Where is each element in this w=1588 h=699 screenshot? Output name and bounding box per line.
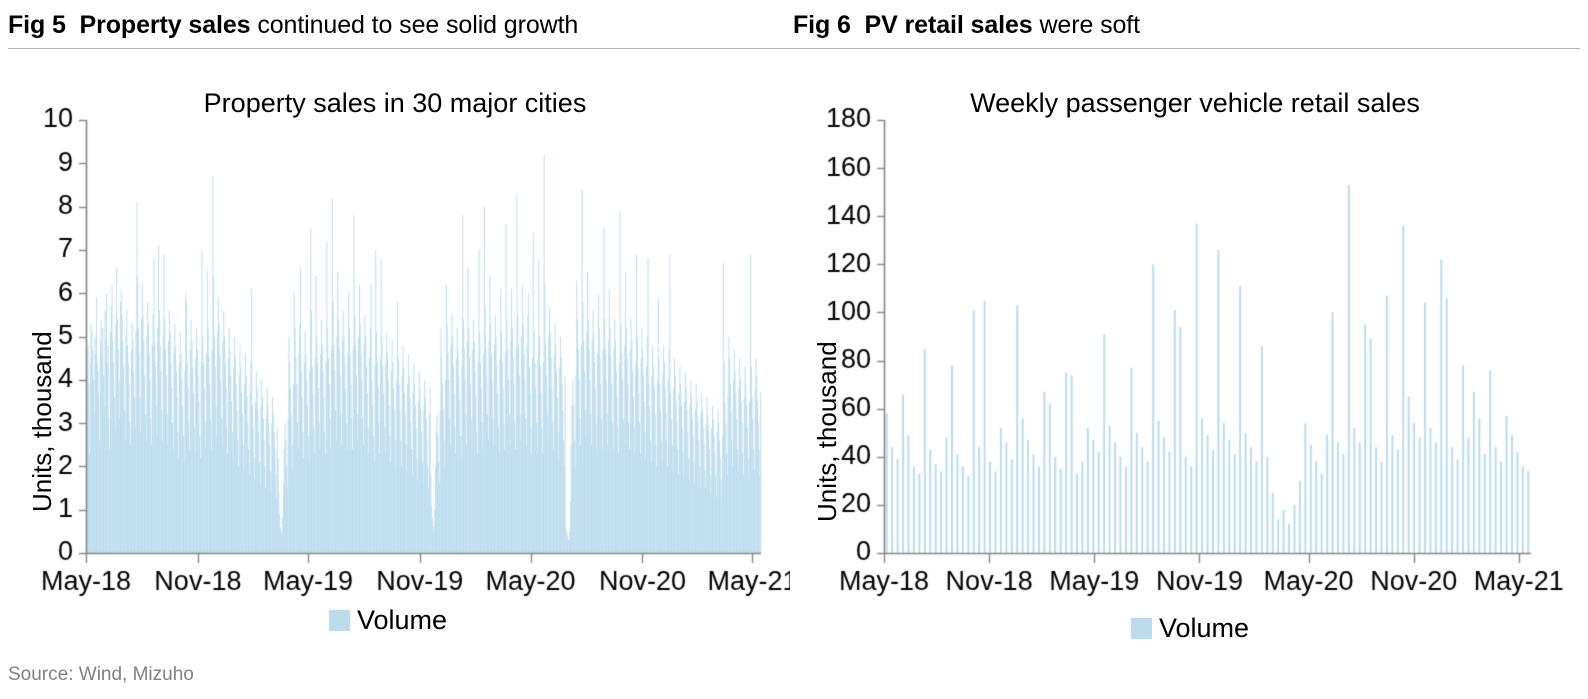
legend-swatch-volume <box>329 610 350 631</box>
fig6-rest-text: were soft <box>1033 11 1140 39</box>
property-sales-legend: Volume <box>18 607 758 634</box>
fig6-number: Fig 6 <box>793 11 851 39</box>
fig5-heading: Fig 5 Property sales continued to see so… <box>8 10 578 40</box>
pv-retail-sales-plot <box>790 52 1588 652</box>
property-sales-y-axis-label: Units, thousand <box>27 331 58 512</box>
figure-headers: Fig 5 Property sales continued to see so… <box>0 0 1588 50</box>
pv-retail-sales-legend: Volume <box>830 615 1550 642</box>
pv-retail-sales-y-axis-label: Units, thousand <box>812 341 843 522</box>
property-sales-chart-title: Property sales in 30 major cities <box>30 88 760 119</box>
fig5-rest-text: continued to see solid growth <box>250 11 578 39</box>
figure-page: Fig 5 Property sales continued to see so… <box>0 0 1588 699</box>
fig6-heading: Fig 6 PV retail sales were soft <box>793 10 1140 40</box>
header-divider <box>8 48 1580 49</box>
property-sales-plot <box>0 52 790 652</box>
chart-panel-pv-retail-sales: Weekly passenger vehicle retail sales Un… <box>790 52 1588 652</box>
legend-label-volume: Volume <box>1159 615 1249 642</box>
legend-label-volume: Volume <box>357 607 447 634</box>
source-note: Source: Wind, Mizuho <box>8 664 194 686</box>
fig5-number: Fig 5 <box>8 11 66 39</box>
legend-swatch-volume <box>1131 618 1152 639</box>
pv-retail-sales-chart-title: Weekly passenger vehicle retail sales <box>845 88 1545 119</box>
fig5-strong-text: Property sales <box>80 11 251 39</box>
chart-panel-property-sales: Property sales in 30 major cities Units,… <box>0 52 790 652</box>
fig6-strong-text: PV retail sales <box>865 11 1033 39</box>
